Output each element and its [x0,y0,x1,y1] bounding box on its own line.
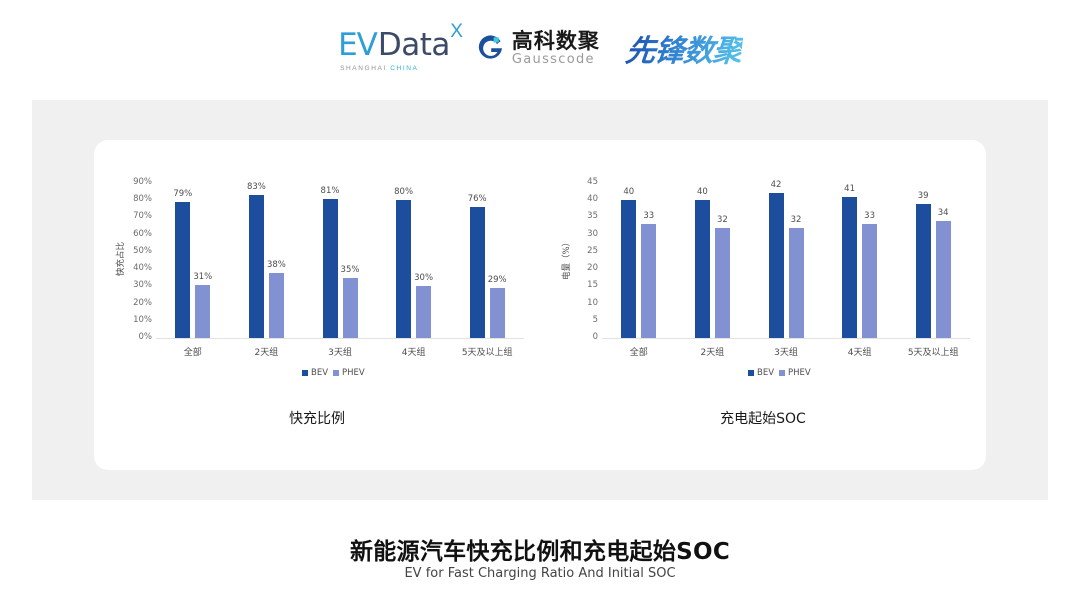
charts-container: 快充占比90%80%70%60%50%40%30%20%10%0%79%31%全… [94,140,986,470]
y-tick-label: 60% [114,229,152,239]
category-label: 4天组 [374,345,454,358]
legend-swatch-icon [748,370,754,376]
y-tick-label: 35 [560,211,598,221]
legend-label: BEV [757,368,774,378]
logo-bar: E V Data X SHANGHAI CHINA 高科数聚 Gausscode… [0,18,1080,78]
category-label: 5天及以上组 [447,345,527,358]
bar-value-label: 80% [387,187,421,197]
legend-item-phev[interactable]: PHEV [333,368,365,378]
chart-caption-initial-soc: 充电起始SOC [540,408,986,428]
evdata-x-superscript-icon: X [450,21,463,43]
evdata-logo: E V Data X SHANGHAI CHINA [338,25,450,72]
legend-label: PHEV [342,368,365,378]
bar-value-label: 31% [186,272,220,282]
y-tick-label: 40% [114,263,152,273]
bar-bev-4 [470,207,485,338]
category-label: 全部 [153,345,233,358]
bar-phev-1 [715,228,730,338]
chart-caption-fast-charging-ratio: 快充比例 [94,408,540,428]
bar-value-label: 34 [926,208,960,218]
bar-value-label: 32 [705,215,739,225]
page-title: 新能源汽车快充比例和充电起始SOC [0,532,1080,566]
y-tick-label: 10 [560,298,598,308]
plot-area-initial-soc: 电量（%）4540353025201510504033全部40322天组4232… [540,158,986,373]
bar-bev-0 [175,202,190,338]
legend-item-bev[interactable]: BEV [748,368,774,378]
gausscode-g-mark-icon [476,34,505,63]
y-tick-label: 20 [560,263,598,273]
y-tick-label: 30 [560,229,598,239]
legend-label: BEV [311,368,328,378]
bar-phev-0 [195,285,210,338]
evdata-tagline-china: CHINA [390,65,418,72]
y-tick-label: 45 [560,177,598,187]
page-subtitle: EV for Fast Charging Ratio And Initial S… [0,566,1080,581]
xianfeng-logo: 先锋数聚 [624,26,745,70]
bar-value-label: 81% [313,186,347,196]
gausscode-chinese-name: 高科数聚 [512,31,600,52]
evdata-word-data: Data [378,27,450,63]
category-label: 2天组 [226,345,306,358]
bar-value-label: 76% [460,194,494,204]
y-tick-label: 20% [114,298,152,308]
legend-item-bev[interactable]: BEV [302,368,328,378]
content-panel: 快充占比90%80%70%60%50%40%30%20%10%0%79%31%全… [32,100,1048,500]
chart-initial-soc: 电量（%）4540353025201510504033全部40322天组4232… [540,158,986,458]
bar-value-label: 79% [166,189,200,199]
y-tick-label: 15 [560,280,598,290]
category-label: 5天及以上组 [893,345,973,358]
legend-swatch-icon [333,370,339,376]
y-tick-label: 70% [114,211,152,221]
category-label: 3天组 [300,345,380,358]
y-tick-label: 50% [114,246,152,256]
bar-value-label: 33 [632,211,666,221]
evdata-wordmark: E V Data X [338,27,450,63]
gausscode-english-name: Gausscode [512,53,600,66]
y-tick-label: 90% [114,177,152,187]
bar-phev-4 [936,221,951,338]
bar-value-label: 35% [333,265,367,275]
legend-label: PHEV [788,368,811,378]
bar-phev-3 [416,286,431,338]
plot-area-fast-charging-ratio: 快充占比90%80%70%60%50%40%30%20%10%0%79%31%全… [94,158,540,373]
category-label: 全部 [599,345,679,358]
bar-value-label: 42 [759,180,793,190]
y-tick-label: 5 [560,315,598,325]
legend-fast-charging-ratio: BEVPHEV [302,368,365,378]
bar-value-label: 32 [779,215,813,225]
bar-value-label: 33 [853,211,887,221]
bar-bev-3 [396,200,411,338]
evdata-tagline-shanghai: SHANGHAI [340,65,387,72]
y-tick-label: 0% [114,332,152,342]
bar-bev-4 [916,204,931,338]
evdata-tagline: SHANGHAI CHINA [340,65,418,72]
category-label: 3天组 [746,345,826,358]
legend-item-phev[interactable]: PHEV [779,368,811,378]
legend-initial-soc: BEVPHEV [748,368,811,378]
gausscode-logo: 高科数聚 Gausscode [476,31,600,66]
bar-phev-2 [343,278,358,338]
bar-value-label: 30% [407,273,441,283]
x-axis-baseline [602,338,970,339]
category-label: 4天组 [820,345,900,358]
bar-phev-3 [862,224,877,338]
bar-phev-0 [641,224,656,338]
chart-card: 快充占比90%80%70%60%50%40%30%20%10%0%79%31%全… [94,140,986,470]
evdata-letter-v: V [357,27,377,63]
bar-value-label: 39 [906,191,940,201]
y-tick-label: 30% [114,280,152,290]
bar-value-label: 38% [259,260,293,270]
bar-value-label: 40 [685,187,719,197]
evdata-letter-e: E [338,27,357,63]
bar-value-label: 41 [833,184,867,194]
bar-phev-4 [490,288,505,338]
x-axis-baseline [156,338,524,339]
y-tick-label: 0 [560,332,598,342]
bar-phev-2 [789,228,804,338]
gausscode-text: 高科数聚 Gausscode [512,31,600,66]
category-label: 2天组 [672,345,752,358]
bar-value-label: 40 [612,187,646,197]
bar-phev-1 [269,273,284,338]
legend-swatch-icon [302,370,308,376]
bar-value-label: 29% [480,275,514,285]
y-tick-label: 40 [560,194,598,204]
y-tick-label: 80% [114,194,152,204]
y-tick-label: 10% [114,315,152,325]
legend-swatch-icon [779,370,785,376]
y-tick-label: 25 [560,246,598,256]
chart-fast-charging-ratio: 快充占比90%80%70%60%50%40%30%20%10%0%79%31%全… [94,158,540,458]
bar-value-label: 83% [239,182,273,192]
